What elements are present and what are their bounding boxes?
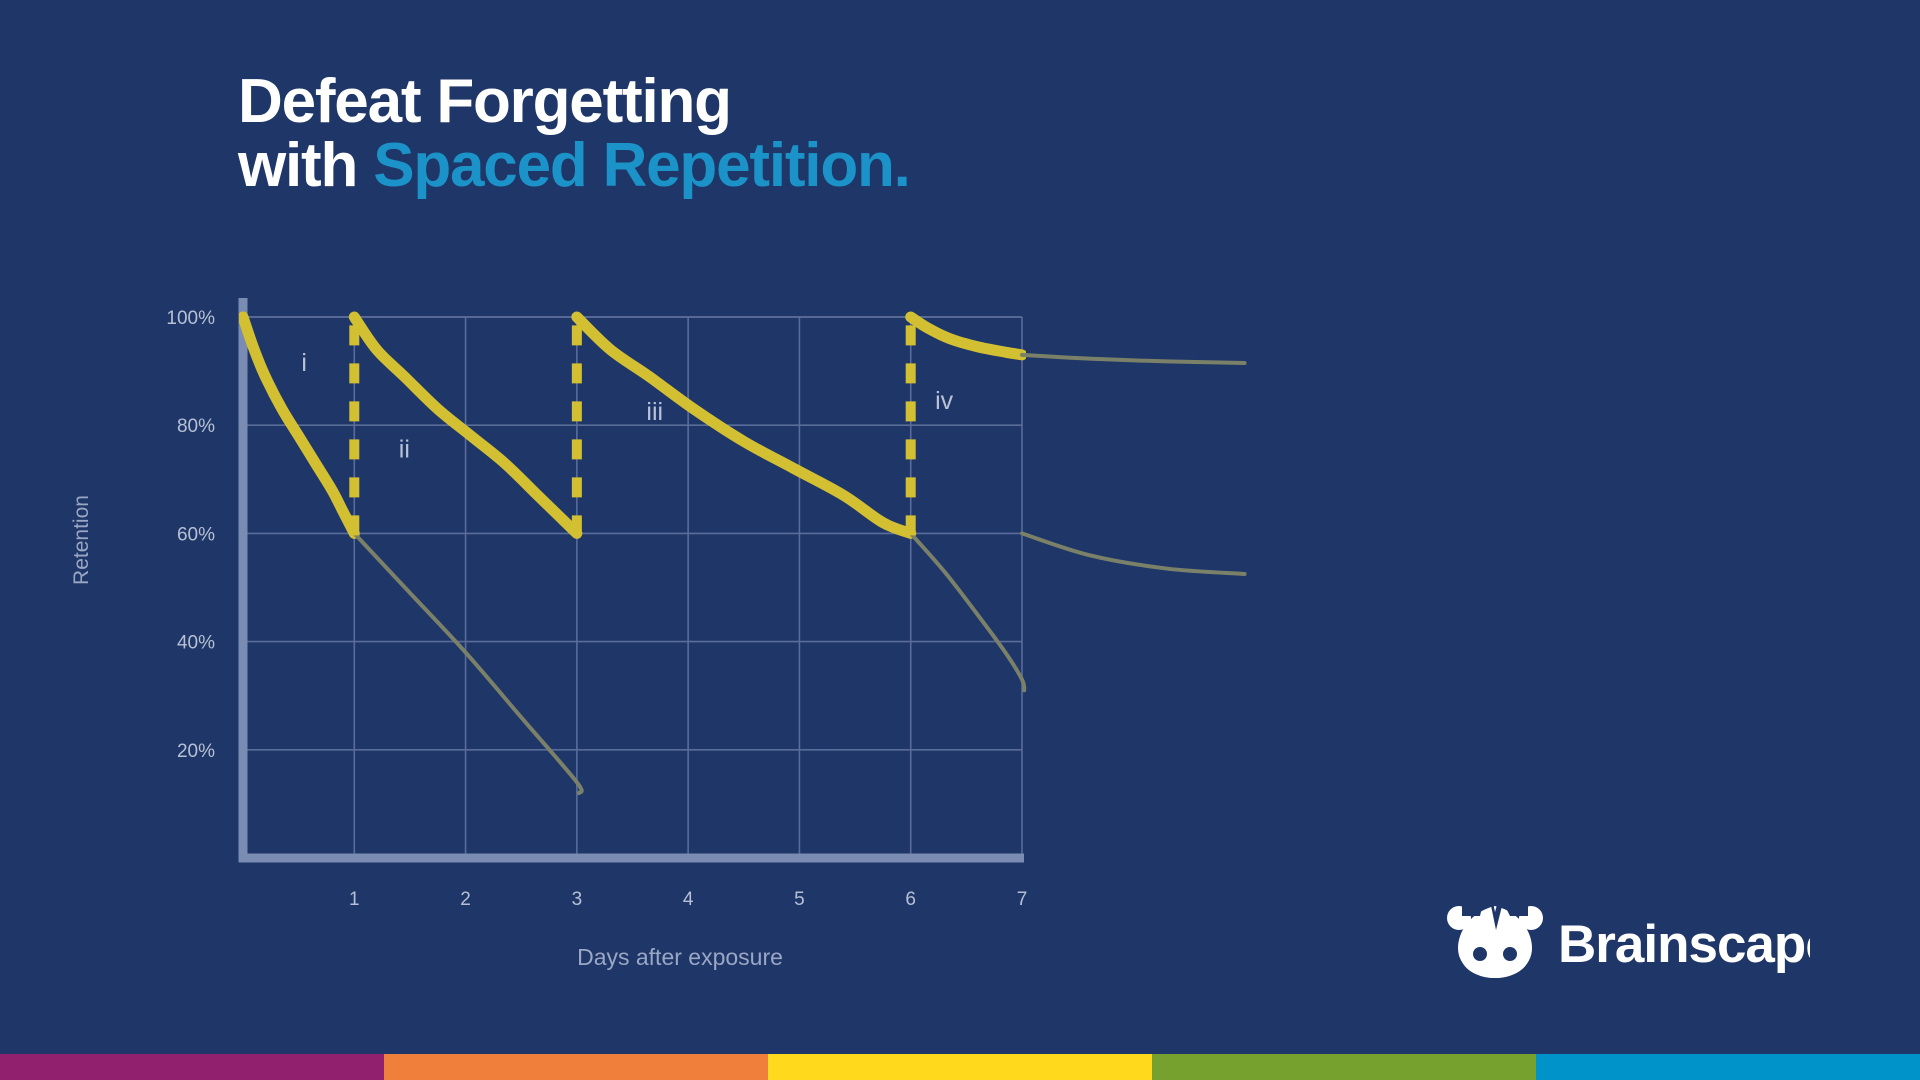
y-tick-label: 100% (166, 308, 215, 329)
color-bar-segment-5 (1536, 1054, 1920, 1080)
data-series-layer (243, 317, 1245, 793)
y-tick-label: 60% (177, 524, 215, 545)
x-tick-label: 1 (349, 889, 360, 910)
brainscape-logo[interactable]: Brainscape (1440, 872, 1810, 982)
brand-color-bar (0, 1054, 1920, 1080)
segment-annotation: iii (646, 398, 663, 426)
series-line (354, 533, 581, 793)
infographic-canvas: Defeat Forgetting with Spaced Repetition… (0, 0, 1920, 1080)
color-bar-segment-4 (1152, 1054, 1536, 1080)
brainscape-wordmark: Brainscape (1558, 915, 1810, 974)
color-bar-segment-1 (0, 1054, 384, 1080)
x-axis-title: Days after exposure (577, 944, 783, 970)
x-tick-label: 2 (460, 889, 471, 910)
segment-annotation: i (301, 349, 307, 377)
x-tick-label: 3 (572, 889, 583, 910)
grid-vertical (243, 317, 1022, 858)
y-tick-label: 80% (177, 416, 215, 437)
segment-annotation: iv (935, 387, 954, 415)
x-tick-label: 5 (794, 889, 805, 910)
segment-annotation: ii (399, 436, 410, 464)
x-tick-label: 4 (683, 889, 694, 910)
series-line (911, 533, 1025, 690)
brainscape-mascot-icon (1447, 874, 1543, 978)
series-line (1022, 533, 1245, 574)
color-bar-segment-2 (384, 1054, 768, 1080)
y-tick-label: 40% (177, 633, 215, 654)
series-line (911, 317, 1022, 355)
x-tick-label: 6 (905, 889, 916, 910)
x-tick-labels: 1234567 (349, 889, 1027, 910)
y-tick-label: 20% (177, 741, 215, 762)
y-tick-labels: 20%40%60%80%100% (166, 308, 215, 762)
x-tick-label: 7 (1017, 889, 1028, 910)
series-line (1022, 355, 1245, 363)
y-axis-title: Retention (70, 495, 93, 585)
color-bar-segment-3 (768, 1054, 1152, 1080)
